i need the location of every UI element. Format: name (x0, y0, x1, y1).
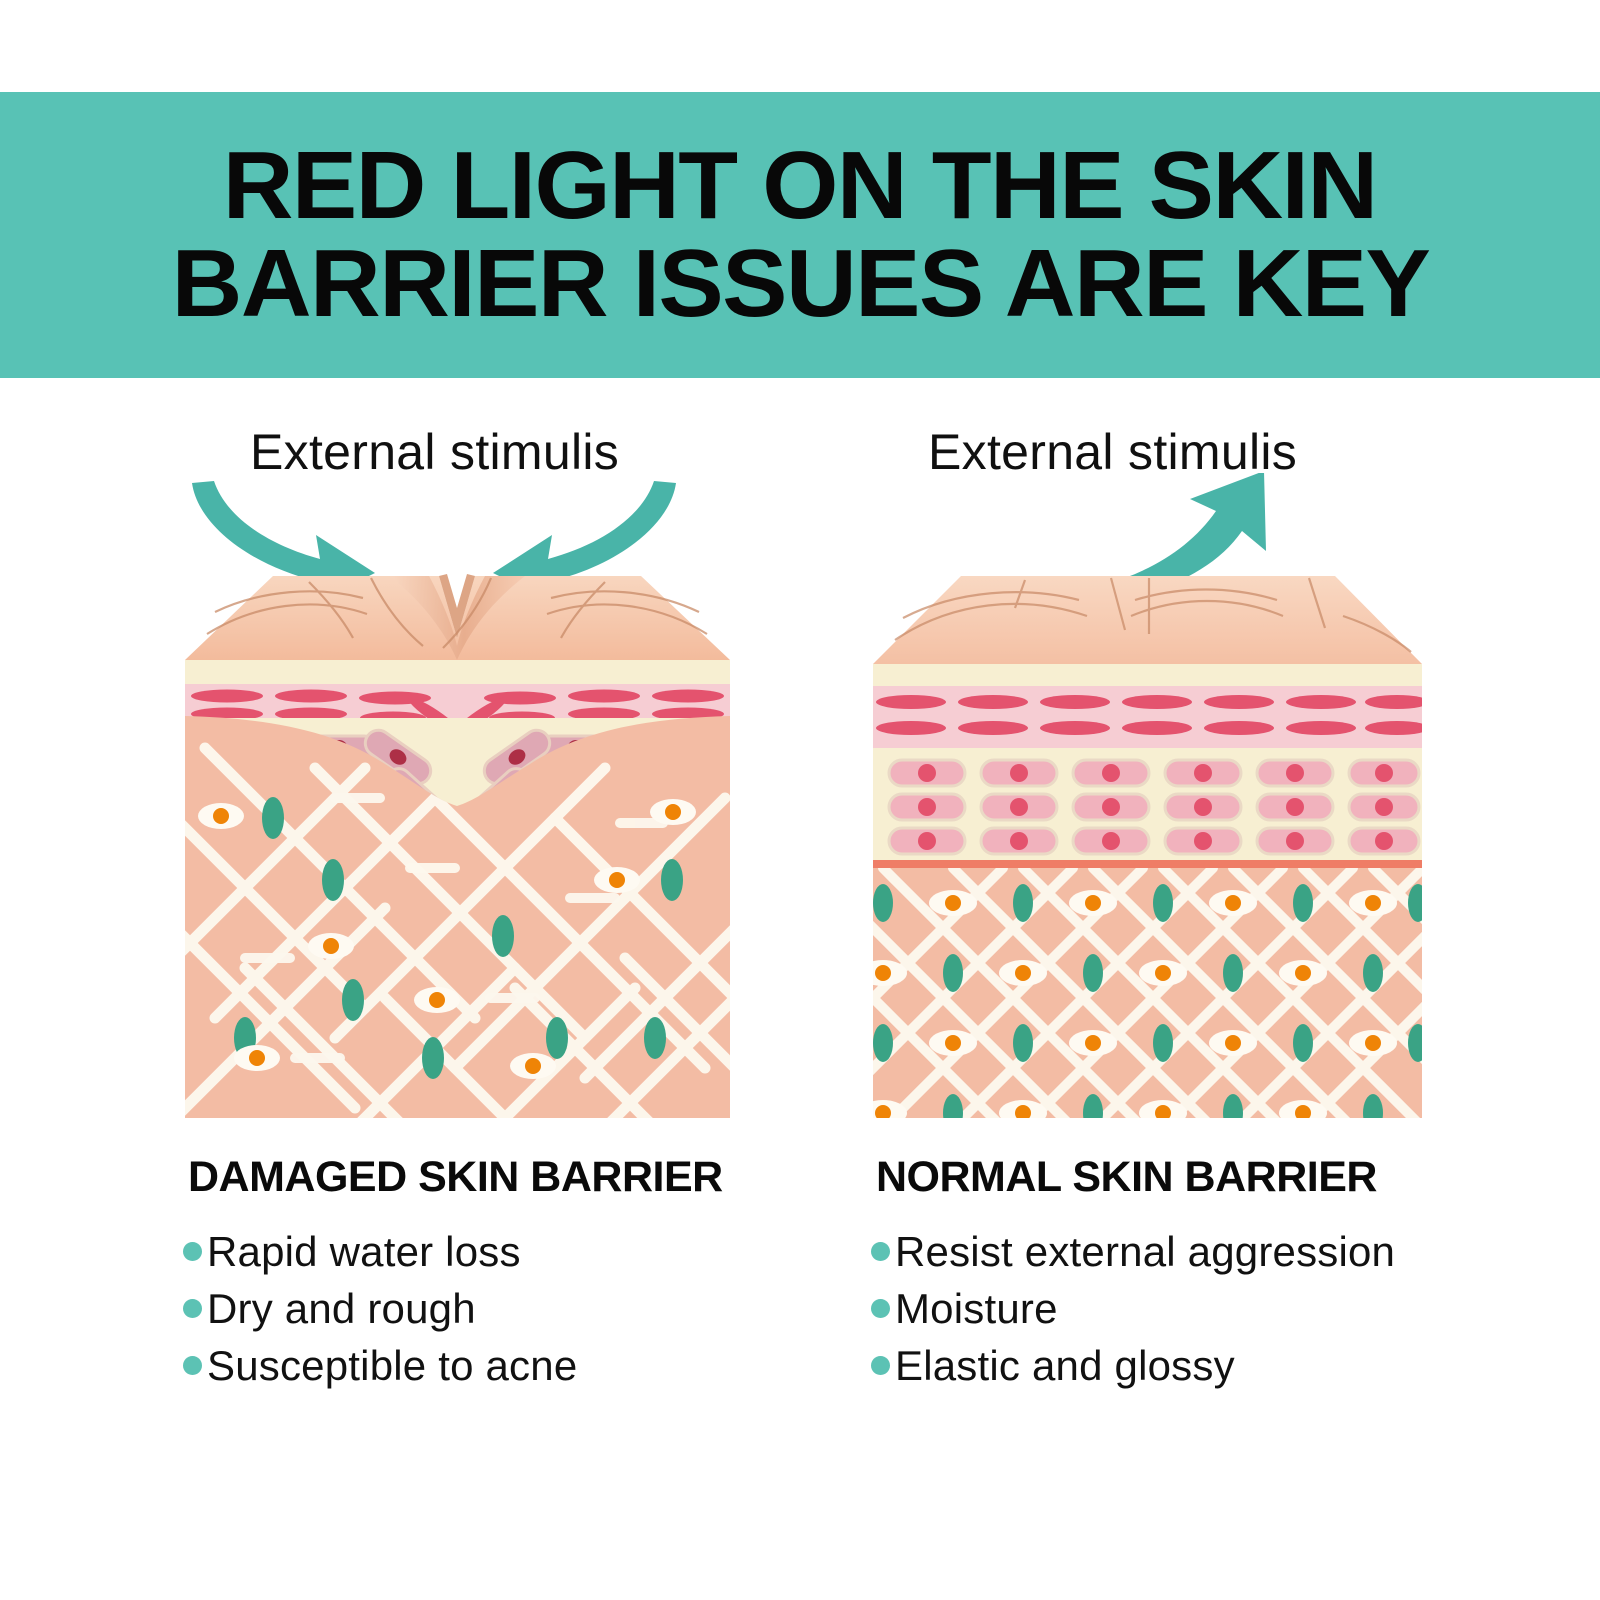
skin-cross-section-normal (873, 568, 1422, 1118)
dermis-normal (873, 868, 1422, 1118)
bullet-dot-icon (871, 1356, 890, 1375)
column-normal-skin-barrier: External stimulis (828, 378, 1528, 1600)
capillary-layer-normal (873, 686, 1422, 750)
bullet-dot-icon (183, 1242, 202, 1261)
external-stimulis-label-damaged: External stimulis (250, 423, 619, 481)
title-line-2: BARRIER ISSUES ARE KEY (171, 235, 1429, 333)
skin-cross-section-damaged (185, 568, 730, 1118)
external-stimulis-label-normal: External stimulis (928, 423, 1297, 481)
skin-surface-damaged (185, 574, 730, 660)
skin-surface-normal (873, 576, 1422, 664)
list-item: Resist external aggression (871, 1223, 1395, 1280)
block-title-normal: NORMAL SKIN BARRIER (876, 1153, 1377, 1202)
list-item: Susceptible to acne (183, 1337, 577, 1394)
title-banner: RED LIGHT ON THE SKIN BARRIER ISSUES ARE… (0, 92, 1600, 378)
title-line-1: RED LIGHT ON THE SKIN (223, 137, 1377, 235)
list-item: Dry and rough (183, 1280, 577, 1337)
bullet-dot-icon (871, 1242, 890, 1261)
bullet-text: Resist external aggression (895, 1228, 1395, 1276)
content-area: External stimulis (0, 378, 1600, 1600)
bullet-text: Dry and rough (207, 1285, 476, 1333)
epidermis-cells-normal (873, 748, 1422, 860)
bullet-text: Rapid water loss (207, 1228, 521, 1276)
bullet-list-normal: Resist external aggression Moisture Elas… (871, 1223, 1395, 1394)
block-title-damaged: DAMAGED SKIN BARRIER (188, 1153, 723, 1202)
bullet-text: Moisture (895, 1285, 1058, 1333)
list-item: Elastic and glossy (871, 1337, 1395, 1394)
column-damaged-skin-barrier: External stimulis (140, 378, 840, 1600)
bullet-text: Elastic and glossy (895, 1342, 1235, 1390)
list-item: Rapid water loss (183, 1223, 577, 1280)
bullet-dot-icon (183, 1356, 202, 1375)
bullet-list-damaged: Rapid water loss Dry and rough Susceptib… (183, 1223, 577, 1394)
bullet-dot-icon (871, 1299, 890, 1318)
bullet-text: Susceptible to acne (207, 1342, 577, 1390)
bullet-dot-icon (183, 1299, 202, 1318)
list-item: Moisture (871, 1280, 1395, 1337)
